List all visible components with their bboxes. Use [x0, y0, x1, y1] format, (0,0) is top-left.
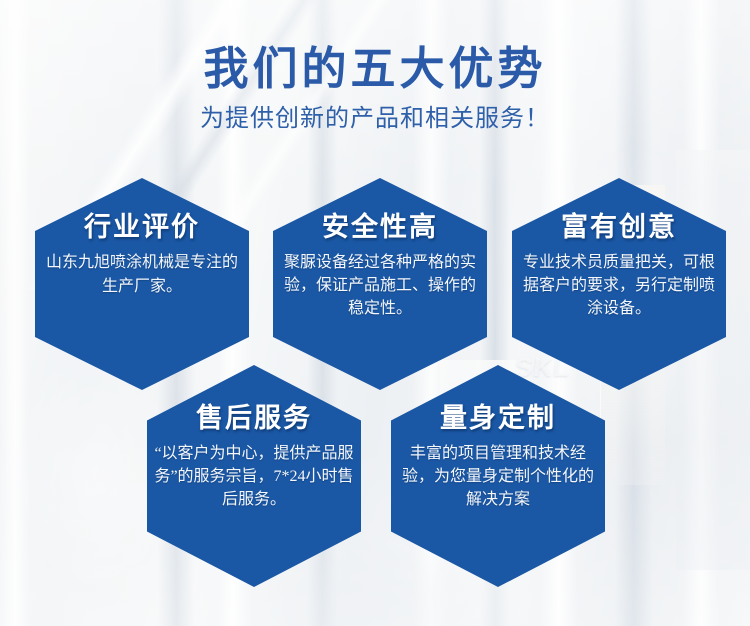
page-subtitle: 为提供创新的产品和相关服务！	[0, 104, 750, 134]
page-title: 我们的五大优势	[0, 42, 750, 96]
advantage-body-5: 丰富的项目管理和技术经验，为您量身定制个性化的解决方案	[397, 442, 599, 511]
advantage-title-4: 售后服务	[196, 401, 312, 435]
advantage-title-3: 富有创意	[561, 210, 677, 244]
advantage-title-2: 安全性高	[322, 210, 438, 244]
advantages-banner: SKL 我们的五大优势 为提供创新的产品和相关服务！ 行业评价 山东九旭喷涂机械…	[0, 0, 750, 626]
advantage-title-1: 行业评价	[84, 210, 200, 244]
advantage-body-2: 聚脲设备经过各种严格的实验，保证产品施工、操作的稳定性。	[279, 251, 481, 320]
page-heading: 我们的五大优势 为提供创新的产品和相关服务！	[0, 42, 750, 134]
advantage-body-4: “以客户为中心，提供产品服务”的服务宗旨，7*24小时售后服务。	[153, 442, 355, 511]
advantage-title-5: 量身定制	[440, 401, 556, 435]
advantage-body-3: 专业技术员质量把关，可根据客户的要求，另行定制喷涂设备。	[518, 251, 720, 320]
advantage-body-1: 山东九旭喷涂机械是专注的生产厂家。	[44, 251, 240, 299]
